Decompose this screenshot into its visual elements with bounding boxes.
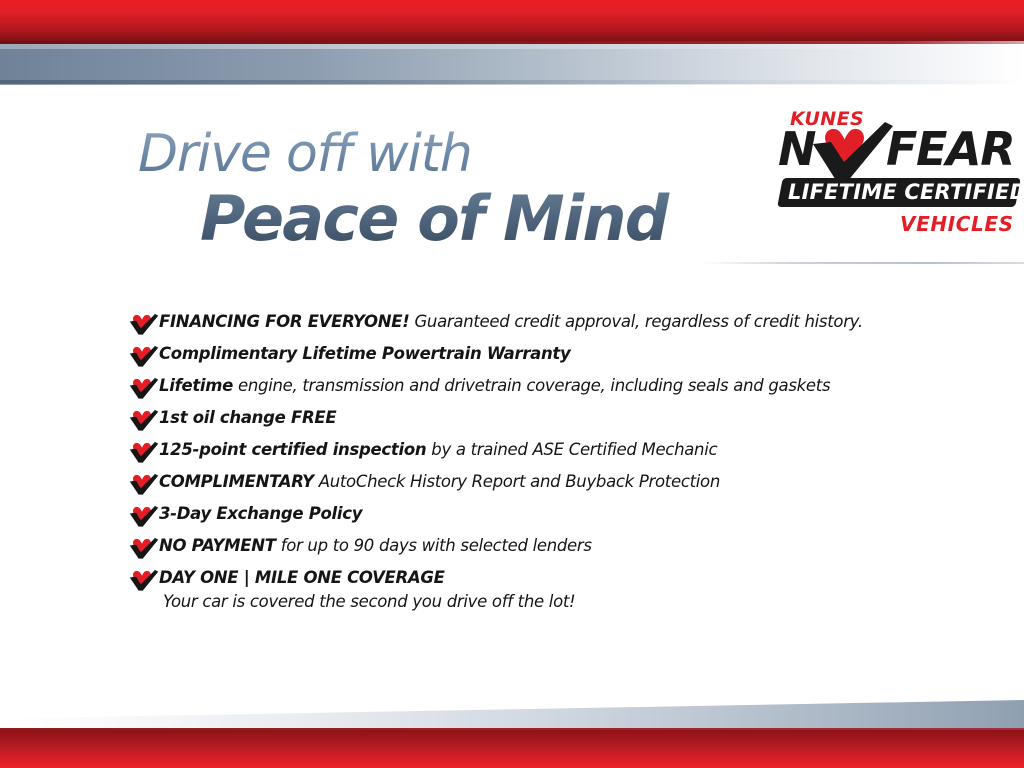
top-band bbox=[0, 0, 1024, 88]
list-item-stack: DAY ONE | MILE ONE COVERAGE Your car is … bbox=[159, 567, 575, 613]
heart-check-icon bbox=[129, 472, 159, 496]
list-item: FINANCING FOR EVERYONE! Guaranteed credi… bbox=[129, 311, 949, 343]
headline-line-2: Peace of Mind bbox=[200, 186, 738, 251]
list-item-rest: for up to 90 days with selected lenders bbox=[276, 536, 592, 555]
benefits-list: FINANCING FOR EVERYONE! Guaranteed credi… bbox=[129, 311, 949, 623]
list-item: 1st oil change FREE bbox=[129, 407, 949, 439]
logo-word-fear: FEAR bbox=[886, 126, 1014, 172]
top-red-strip bbox=[0, 0, 1024, 41]
list-item-text: Complimentary Lifetime Powertrain Warran… bbox=[159, 343, 570, 365]
bottom-red-strip bbox=[0, 730, 1024, 768]
logo-letter-n: N bbox=[778, 126, 816, 172]
list-item-rest: AutoCheck History Report and Buyback Pro… bbox=[314, 472, 720, 491]
list-item-rest: Guaranteed credit approval, regardless o… bbox=[410, 312, 863, 331]
list-item-text: COMPLIMENTARY AutoCheck History Report a… bbox=[159, 471, 720, 493]
list-item-bold: 125-point certified inspection bbox=[159, 440, 426, 459]
headline-block: Drive off with Peace of Mind bbox=[138, 128, 738, 251]
list-item-bold: 3-Day Exchange Policy bbox=[159, 504, 362, 523]
promo-poster: Drive off with Peace of Mind KUNES N FEA… bbox=[0, 0, 1024, 768]
heart-check-icon bbox=[129, 440, 159, 464]
bottom-band bbox=[0, 688, 1024, 768]
list-item: 125-point certified inspection by a trai… bbox=[129, 439, 949, 471]
top-gray-highlight bbox=[0, 44, 1024, 49]
headline-line-1: Drive off with bbox=[138, 128, 738, 180]
list-item: NO PAYMENT for up to 90 days with select… bbox=[129, 535, 949, 567]
list-item-bold: Complimentary Lifetime Powertrain Warran… bbox=[159, 344, 570, 363]
list-item: DAY ONE | MILE ONE COVERAGE Your car is … bbox=[129, 567, 949, 623]
heart-check-icon bbox=[129, 344, 159, 368]
heart-check-icon bbox=[129, 312, 159, 336]
list-item: Lifetime engine, transmission and drivet… bbox=[129, 375, 949, 407]
heart-check-icon bbox=[811, 122, 895, 184]
list-item-bold: 1st oil change FREE bbox=[159, 408, 336, 427]
heart-check-icon bbox=[129, 504, 159, 528]
list-item: 3-Day Exchange Policy bbox=[129, 503, 949, 535]
list-item-text: 125-point certified inspection by a trai… bbox=[159, 439, 717, 461]
bottom-gray-gradient-wedge bbox=[0, 700, 1024, 730]
list-item-bold: DAY ONE | MILE ONE COVERAGE bbox=[159, 568, 445, 587]
list-item-bold: COMPLIMENTARY bbox=[159, 472, 314, 491]
list-item-rest: engine, transmission and drivetrain cove… bbox=[233, 376, 830, 395]
logo-nofear-row: N FEAR bbox=[778, 126, 1018, 178]
kunes-no-fear-logo: KUNES N FEAR LIFETIME CERTIFIED VEHICLES bbox=[778, 108, 1018, 248]
heart-check-icon bbox=[129, 568, 159, 592]
heart-check-icon bbox=[129, 376, 159, 400]
list-item-bold: FINANCING FOR EVERYONE! bbox=[159, 312, 410, 331]
list-item-bold: Lifetime bbox=[159, 376, 233, 395]
list-item-text: Lifetime engine, transmission and drivet… bbox=[159, 375, 830, 397]
top-gray-shadow bbox=[0, 80, 1024, 85]
list-item-text: 3-Day Exchange Policy bbox=[159, 503, 362, 525]
list-item: COMPLIMENTARY AutoCheck History Report a… bbox=[129, 471, 949, 503]
list-item-bold: NO PAYMENT bbox=[159, 536, 276, 555]
list-item-text: 1st oil change FREE bbox=[159, 407, 336, 429]
list-item-rest: by a trained ASE Certified Mechanic bbox=[426, 440, 717, 459]
list-item-text: NO PAYMENT for up to 90 days with select… bbox=[159, 535, 592, 557]
logo-lifetime-certified-label: LIFETIME CERTIFIED bbox=[788, 180, 1018, 205]
list-item-text: FINANCING FOR EVERYONE! Guaranteed credi… bbox=[159, 311, 863, 333]
heart-check-icon bbox=[129, 536, 159, 560]
list-item-text: DAY ONE | MILE ONE COVERAGE bbox=[159, 568, 445, 587]
header-divider bbox=[700, 262, 1024, 264]
logo-vehicles-label: VEHICLES bbox=[900, 212, 1014, 236]
top-gray-gradient-bar bbox=[0, 44, 1024, 84]
list-item-subtext: Your car is covered the second you drive… bbox=[163, 591, 575, 613]
list-item: Complimentary Lifetime Powertrain Warran… bbox=[129, 343, 949, 375]
heart-check-icon bbox=[129, 408, 159, 432]
